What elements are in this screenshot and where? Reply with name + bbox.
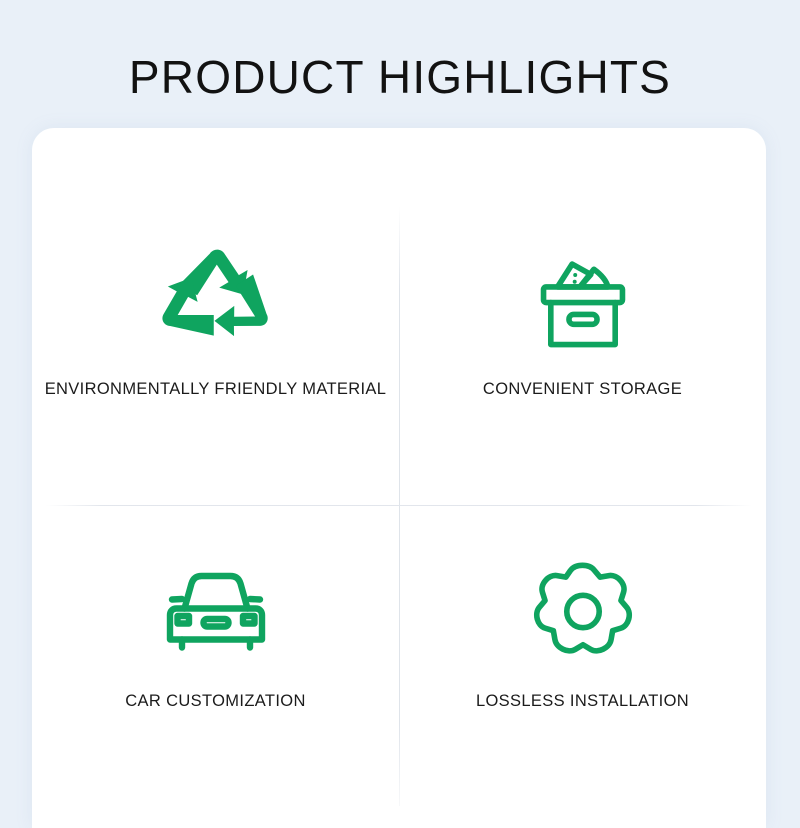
product-highlights-page: PRODUCT HIGHLIGHTS ENVIRONMENTALLY FRIEN… xyxy=(0,0,800,800)
feature-label: LOSSLESS INSTALLATION xyxy=(476,692,689,711)
feature-cell-car-customization[interactable]: CAR CUSTOMIZATION xyxy=(32,556,399,711)
gear-icon xyxy=(531,556,635,668)
car-front-icon xyxy=(158,556,274,668)
feature-cell-environmentally-friendly-material[interactable]: ENVIRONMENTALLY FRIENDLY MATERIAL xyxy=(32,246,399,399)
recycle-icon xyxy=(160,246,272,358)
feature-label: ENVIRONMENTALLY FRIENDLY MATERIAL xyxy=(45,380,387,399)
feature-cell-lossless-installation[interactable]: LOSSLESS INSTALLATION xyxy=(399,556,766,711)
storage-box-icon xyxy=(529,246,637,358)
highlights-card: ENVIRONMENTALLY FRIENDLY MATERIAL xyxy=(32,128,766,828)
feature-label: CONVENIENT STORAGE xyxy=(483,380,682,399)
feature-label: CAR CUSTOMIZATION xyxy=(125,692,305,711)
grid-divider-horizontal xyxy=(46,505,752,506)
feature-cell-convenient-storage[interactable]: CONVENIENT STORAGE xyxy=(399,246,766,399)
page-title: PRODUCT HIGHLIGHTS xyxy=(0,52,800,103)
